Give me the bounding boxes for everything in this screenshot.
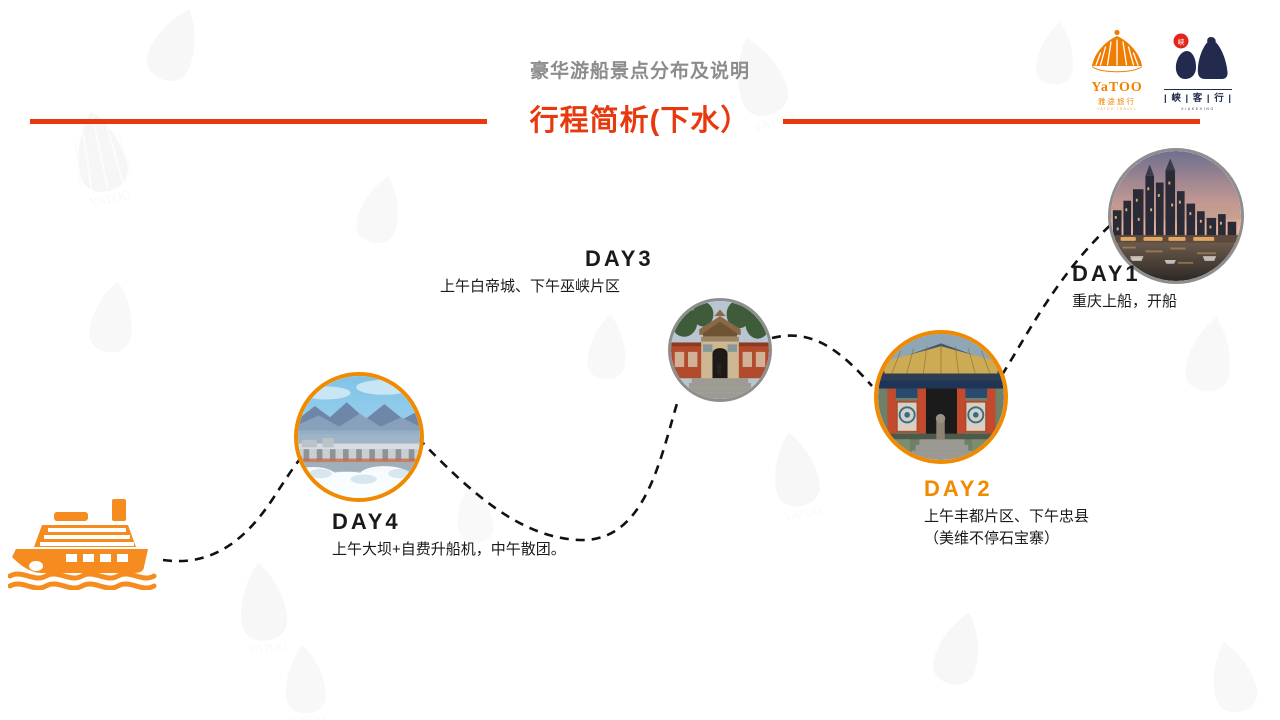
day-title-day1: DAY1 <box>1072 260 1272 288</box>
stop-label-day4: DAY4 上午大坝+自费升船机，中午散团。 <box>332 508 672 561</box>
slide-canvas: YATOO YATOO YA <box>0 0 1280 720</box>
xiakexing-mark-icon: 峡 <box>1165 29 1231 86</box>
baidicheng-gate-photo <box>671 301 769 399</box>
stop-label-day2: DAY2 上午丰都片区、下午忠县 （美维不停石宝寨） <box>924 475 1204 551</box>
brand-logos: YaTOO 雅途旅行 YATOO TRAVEL 峡 | 峡 | 客 | 行 | … <box>1088 26 1232 112</box>
stop-label-day3: DAY3 上午白帝城、下午巫峡片区 <box>440 245 740 298</box>
svg-text:峡: 峡 <box>1178 38 1185 47</box>
yatoo-mark-icon <box>1088 26 1146 79</box>
stop-label-day1: DAY1 重庆上船，开船 <box>1072 260 1272 313</box>
route-segment-ship-to-day4 <box>163 450 308 561</box>
route-segment-day3-to-day2 <box>772 336 872 386</box>
xiakexing-logo: 峡 | 峡 | 客 | 行 | XIAKEXING <box>1164 29 1232 112</box>
day-desc-day2: 上午丰都片区、下午忠县 （美维不停石宝寨） <box>924 506 1204 551</box>
yatoo-logo: YaTOO 雅途旅行 YATOO TRAVEL <box>1088 26 1146 112</box>
day-title-day4: DAY4 <box>332 508 672 536</box>
cruise-ship-icon <box>8 495 173 590</box>
day-title-day2: DAY2 <box>924 475 1204 503</box>
day-desc-day1: 重庆上船，开船 <box>1072 291 1272 314</box>
stop-photo-day2[interactable] <box>874 330 1008 464</box>
three-gorges-dam-photo <box>298 376 420 498</box>
xiakexing-brand-cn: | 峡 | 客 | 行 | <box>1164 89 1232 106</box>
yatoo-brand-en: YaTOO <box>1091 81 1142 96</box>
stop-photo-day4[interactable] <box>294 372 424 502</box>
yatoo-brand-cn: 雅途旅行 <box>1098 96 1136 107</box>
day-title-day3: DAY3 <box>585 245 740 273</box>
yatoo-brand-pinyin: YATOO TRAVEL <box>1097 107 1137 112</box>
xiakexing-brand-pinyin: XIAKEXING <box>1181 107 1215 113</box>
day-desc-day3: 上午白帝城、下午巫峡片区 <box>440 276 740 299</box>
day-desc-day4: 上午大坝+自费升船机，中午散团。 <box>332 539 672 562</box>
fengdu-temple-photo <box>878 334 1004 460</box>
stop-photo-day3[interactable] <box>668 298 772 402</box>
